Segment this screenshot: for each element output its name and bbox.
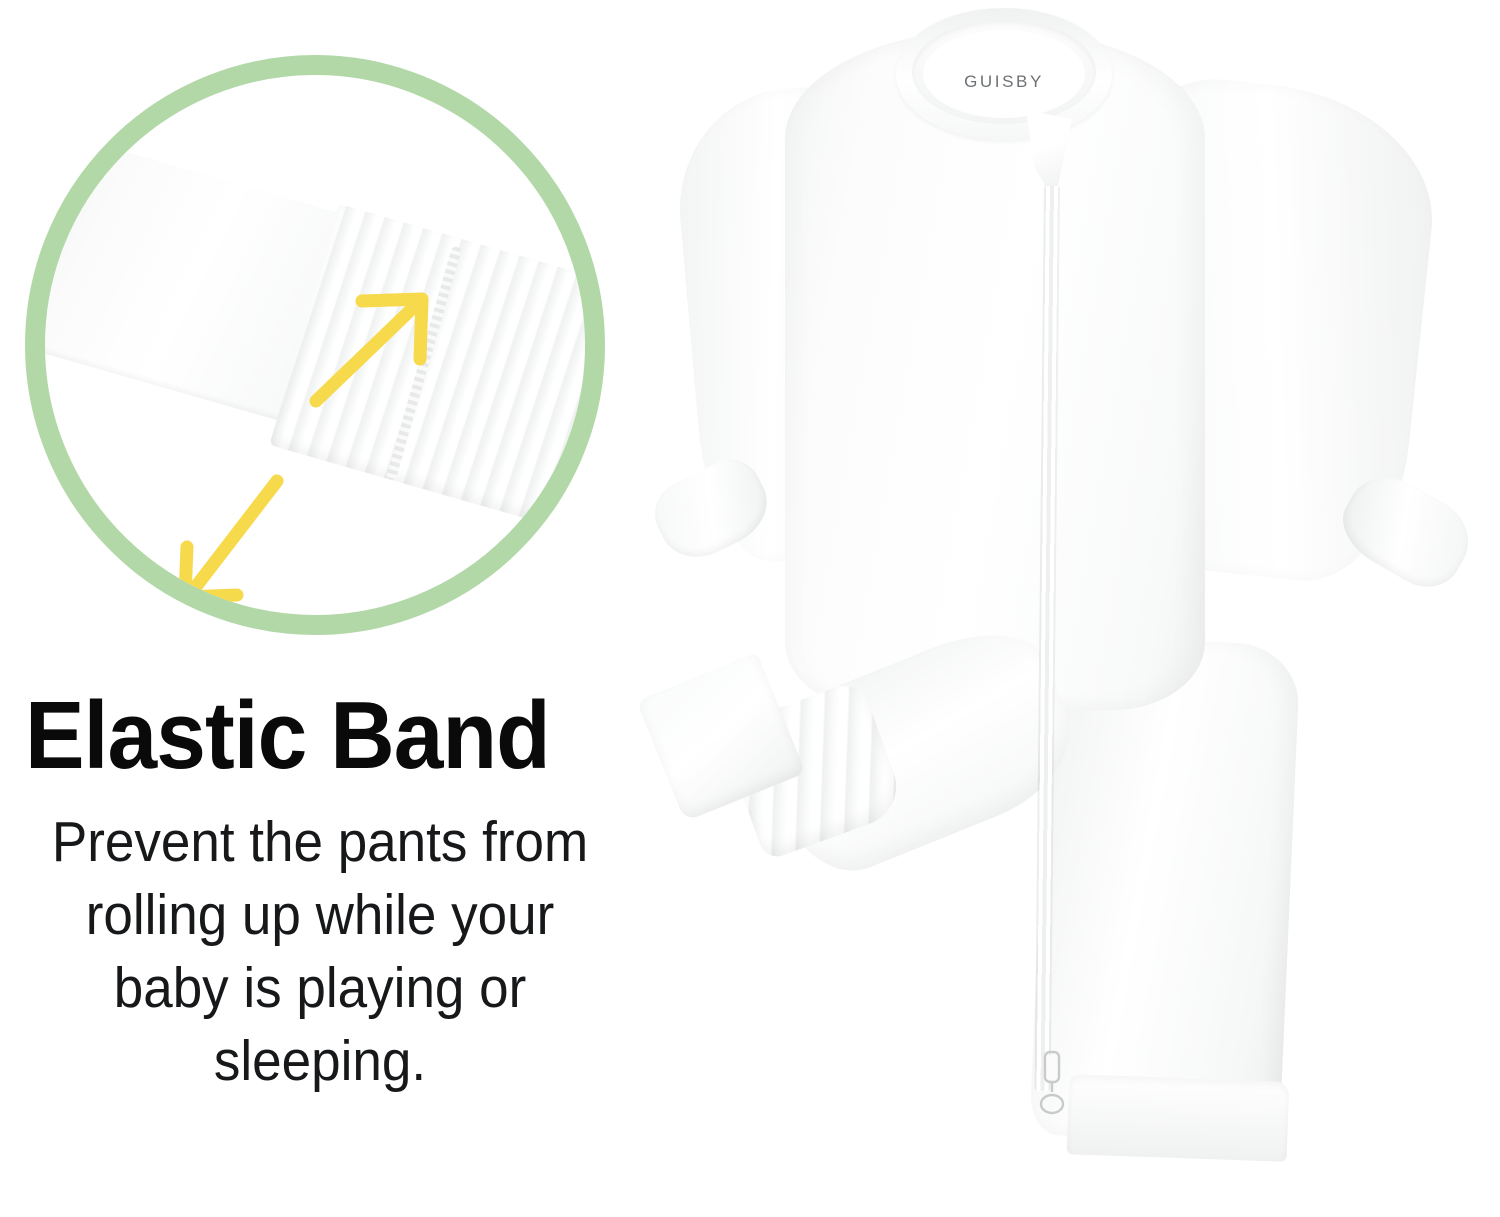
elastic-band-zoom-circle [25, 55, 605, 635]
feature-text-block: Elastic Band Prevent the pants from roll… [0, 692, 640, 1098]
feature-description: Prevent the pants from rolling up while … [22, 806, 617, 1098]
brand-neck-label: GUISBY [923, 72, 1085, 92]
baby-sleeper-product-photo: GUISBY [620, 0, 1500, 1217]
product-feature-infographic: Elastic Band Prevent the pants from roll… [0, 0, 1500, 1217]
zipper-pull-icon [1034, 1050, 1070, 1128]
stretch-arrow-up-icon [300, 285, 440, 415]
feature-heading: Elastic Band [25, 692, 597, 780]
stretch-arrow-down-icon [165, 465, 295, 615]
right-leg-elastic-cuff [1067, 1074, 1290, 1162]
zoom-photo-clip [45, 75, 585, 615]
